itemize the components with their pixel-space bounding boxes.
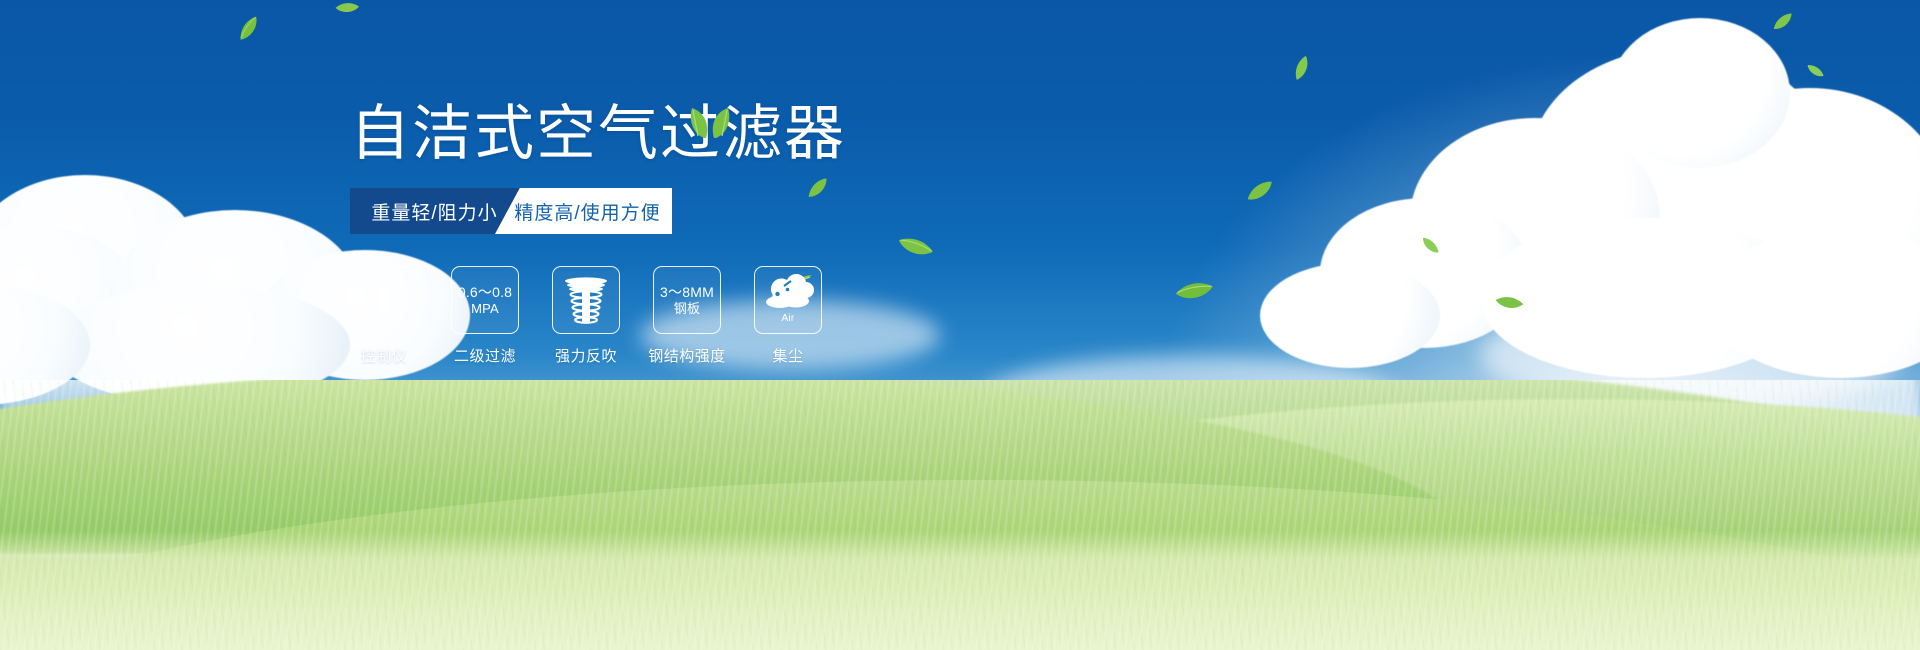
steel-material: 钢板 (660, 301, 714, 316)
air-label: Air (755, 313, 821, 324)
banner-stage: 自洁式空气过滤器 重量轻/阻力小 精度高/使用方便 (0, 0, 1920, 650)
steel-thickness: 3～8MM (660, 284, 714, 300)
feature-item-steel-strength[interactable]: 3～8MM 钢板 钢结构强度 (653, 266, 721, 366)
feature-caption: 强力反吹 (555, 345, 617, 366)
pressure-unit: MPA (458, 301, 512, 316)
feature-item-controller[interactable]: NO OFF 控制仪 (350, 266, 418, 366)
leaf-icon (1175, 279, 1214, 304)
feature-icon-row: NO OFF 控制仪 0.6～0.8 MPA 二级过滤 (350, 266, 1050, 366)
air-cloud-icon: Air (754, 266, 822, 334)
leaf-icon (1421, 234, 1439, 257)
feature-caption: 二级过滤 (454, 345, 516, 366)
steel-plate-text-icon: 3～8MM 钢板 (653, 266, 721, 334)
leaf-icon (1806, 61, 1825, 81)
leaf-icon (1289, 55, 1315, 82)
feature-item-two-stage-filter[interactable]: 0.6～0.8 MPA 二级过滤 (451, 266, 519, 366)
pressure-text-icon: 0.6～0.8 MPA (451, 266, 519, 334)
filter-cartridge-icon (552, 266, 620, 334)
gauge-off-label: OFF (389, 316, 402, 323)
leaf-icon (1494, 290, 1524, 315)
feature-item-dust-collection[interactable]: Air 集尘 (754, 266, 822, 366)
gauge-icon: NO OFF (350, 266, 418, 334)
grass-texture (0, 380, 1920, 650)
leaf-icon (1771, 13, 1796, 32)
grass-field (0, 380, 1920, 650)
tab-precision-convenience[interactable]: 精度高/使用方便 (495, 188, 672, 234)
title-leaf-decoration (680, 94, 740, 145)
pressure-value: 0.6～0.8 (458, 284, 512, 300)
feature-tabs: 重量轻/阻力小 精度高/使用方便 (350, 188, 672, 234)
feature-caption: 集尘 (772, 345, 803, 366)
feature-caption: 钢结构强度 (648, 345, 726, 366)
feature-caption: 控制仪 (361, 345, 408, 366)
leaf-icon (1245, 181, 1276, 203)
banner-copy: 自洁式空气过滤器 重量轻/阻力小 精度高/使用方便 (350, 104, 1050, 366)
leaf-icon (234, 16, 263, 42)
feature-item-reverse-blow[interactable]: 强力反吹 (552, 266, 620, 366)
gauge-on-label: NO (357, 299, 367, 306)
leaf-icon (335, 0, 360, 17)
